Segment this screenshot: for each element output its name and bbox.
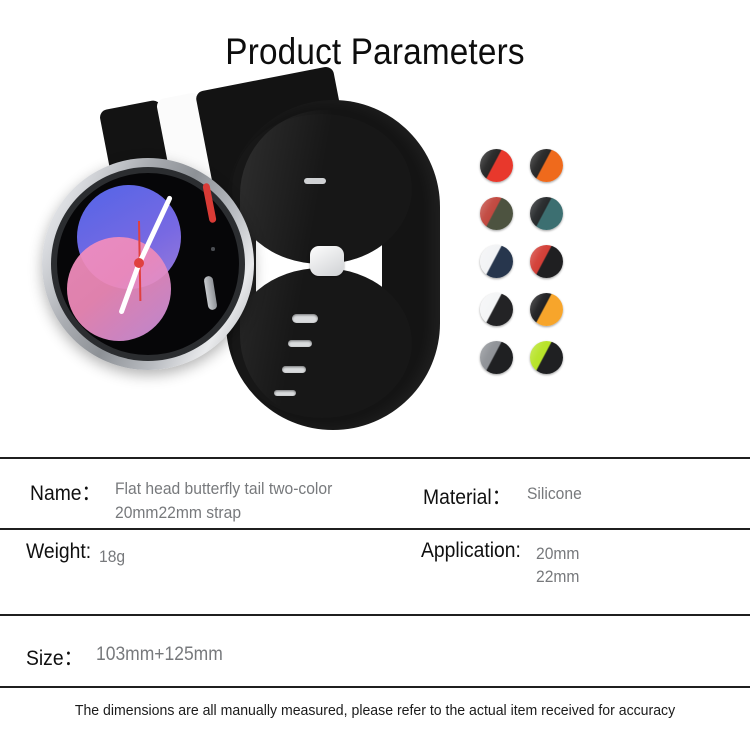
spec-label-weight: Weight: [26, 540, 91, 564]
table-divider-top [0, 457, 750, 459]
color-swatch-black-amber[interactable] [522, 285, 570, 333]
page-title: Product Parameters [38, 30, 713, 74]
spec-value-application-line2: 22mm [536, 565, 579, 588]
spec-row-weight: Weight: 18g [26, 540, 127, 564]
color-swatch-gray-black[interactable] [472, 333, 520, 381]
spec-value-name-line2: 20mm22mm strap [115, 501, 332, 525]
product-parameters-page: Product Parameters [0, 0, 750, 750]
strap-butterfly-tail [226, 100, 440, 430]
spec-value-application-line1: 20mm [536, 542, 579, 565]
color-swatch-red-olive[interactable] [472, 189, 520, 237]
product-image [0, 80, 470, 450]
color-swatch-white-black[interactable] [472, 285, 520, 333]
disclaimer-text: The dimensions are all manually measured… [23, 702, 728, 719]
watch-illustration [0, 80, 470, 450]
spec-value-material: Silicone [527, 484, 582, 504]
table-divider-bottom [0, 686, 750, 688]
color-swatch-red-black[interactable] [522, 237, 570, 285]
color-swatch-white-navy[interactable] [472, 237, 520, 285]
spec-label-size: Size： [26, 642, 83, 672]
color-swatch-black-red[interactable] [472, 141, 520, 189]
watch-microphone-icon [211, 247, 215, 251]
buckle-pin [310, 246, 344, 276]
spec-row-material: Material： Silicone [423, 481, 586, 511]
spec-row-name: Name： Flat head butterfly tail two-color… [30, 477, 351, 525]
color-swatch-black-orange[interactable] [522, 141, 570, 189]
spec-value-size: 103mm+125mm [96, 644, 223, 666]
color-swatch-lime-black[interactable] [522, 333, 570, 381]
color-swatch-black-teal[interactable] [522, 189, 570, 237]
spec-row-application: Application: 20mm 22mm [421, 539, 583, 585]
spec-value-weight: 18g [99, 547, 125, 567]
table-divider-third [0, 614, 750, 616]
spec-label-application: Application: [421, 539, 521, 563]
spec-label-name: Name： [30, 477, 101, 507]
watch-case [42, 158, 254, 370]
spec-label-material: Material： [423, 481, 511, 511]
color-swatch-grid[interactable] [472, 141, 570, 381]
table-divider-second [0, 528, 750, 530]
spec-row-size: Size： 103mm+125mm [26, 642, 234, 672]
spec-value-name-line1: Flat head butterfly tail two-color [115, 477, 332, 501]
